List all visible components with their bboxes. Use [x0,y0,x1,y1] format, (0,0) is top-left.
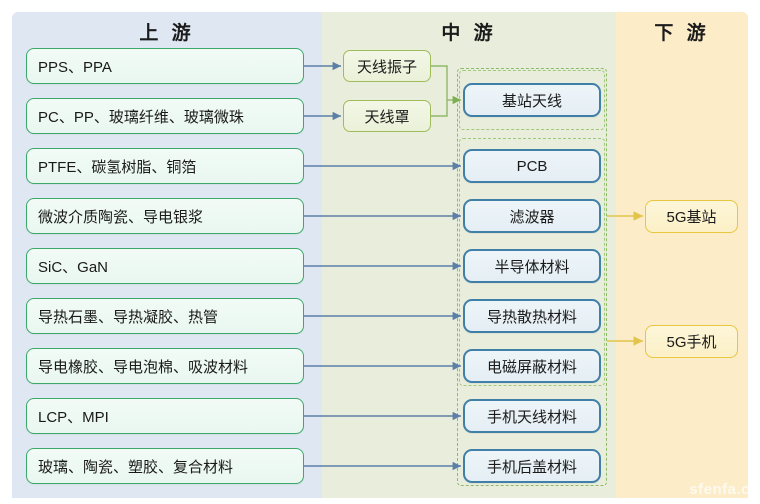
upstream-item-2[interactable]: PC、PP、玻璃纤维、玻璃微珠 [26,98,304,134]
midstream-item-label: PCB [517,158,548,175]
midstream-item-label: 基站天线 [502,90,562,111]
midstream-item-base-station-antenna[interactable]: 基站天线 [463,83,601,117]
upstream-item-6[interactable]: 导热石墨、导热凝胶、热管 [26,298,304,334]
midstream-item-semiconductor[interactable]: 半导体材料 [463,249,601,283]
downstream-item-label: 5G手机 [666,331,716,352]
diagram-canvas: 上 游 中 游 下 游 [0,0,760,504]
midstream-item-phone-backcover[interactable]: 手机后盖材料 [463,449,601,483]
midstream-item-label: 滤波器 [509,206,554,227]
upstream-band-title: 上 游 [12,18,322,45]
midstream-item-filter[interactable]: 滤波器 [463,199,601,233]
upstream-item-9[interactable]: 玻璃、陶瓷、塑胶、复合材料 [26,448,304,484]
downstream-band [616,12,748,498]
midstream-item-thermal[interactable]: 导热散热材料 [463,299,601,333]
midstream-item-label: 手机后盖材料 [487,456,577,477]
midstream-item-label: 手机天线材料 [487,406,577,427]
subcomponent-antenna-radome[interactable]: 天线罩 [343,100,431,132]
midstream-item-label: 电磁屏蔽材料 [487,356,577,377]
upstream-item-label: LCP、MPI [38,406,109,427]
midstream-item-label: 导热散热材料 [487,306,577,327]
upstream-item-label: SiC、GaN [38,256,108,277]
upstream-item-5[interactable]: SiC、GaN [26,248,304,284]
upstream-item-label: 玻璃、陶瓷、塑胶、复合材料 [38,456,233,477]
midstream-band-title: 中 游 [322,18,616,45]
upstream-item-4[interactable]: 微波介质陶瓷、导电银浆 [26,198,304,234]
upstream-item-8[interactable]: LCP、MPI [26,398,304,434]
subcomponent-label: 天线振子 [357,56,417,77]
upstream-item-7[interactable]: 导电橡胶、导电泡棉、吸波材料 [26,348,304,384]
upstream-item-label: 导热石墨、导热凝胶、热管 [38,306,218,327]
upstream-item-label: PC、PP、玻璃纤维、玻璃微珠 [38,106,244,127]
upstream-item-1[interactable]: PPS、PPA [26,48,304,84]
midstream-item-phone-antenna[interactable]: 手机天线材料 [463,399,601,433]
midstream-item-label: 半导体材料 [494,256,569,277]
upstream-item-3[interactable]: PTFE、碳氢树脂、铜箔 [26,148,304,184]
upstream-item-label: PTFE、碳氢树脂、铜箔 [38,156,196,177]
midstream-item-emi-shielding[interactable]: 电磁屏蔽材料 [463,349,601,383]
upstream-item-label: 微波介质陶瓷、导电银浆 [38,206,203,227]
downstream-item-label: 5G基站 [666,206,716,227]
downstream-item-5g-phone[interactable]: 5G手机 [645,325,738,358]
watermark: sfenfa.c [689,481,750,498]
downstream-band-title: 下 游 [616,18,748,45]
upstream-item-label: PPS、PPA [38,56,112,77]
downstream-item-5g-base-station[interactable]: 5G基站 [645,200,738,233]
subcomponent-antenna-oscillator[interactable]: 天线振子 [343,50,431,82]
upstream-item-label: 导电橡胶、导电泡棉、吸波材料 [38,356,248,377]
midstream-item-pcb[interactable]: PCB [463,149,601,183]
subcomponent-label: 天线罩 [364,106,409,127]
